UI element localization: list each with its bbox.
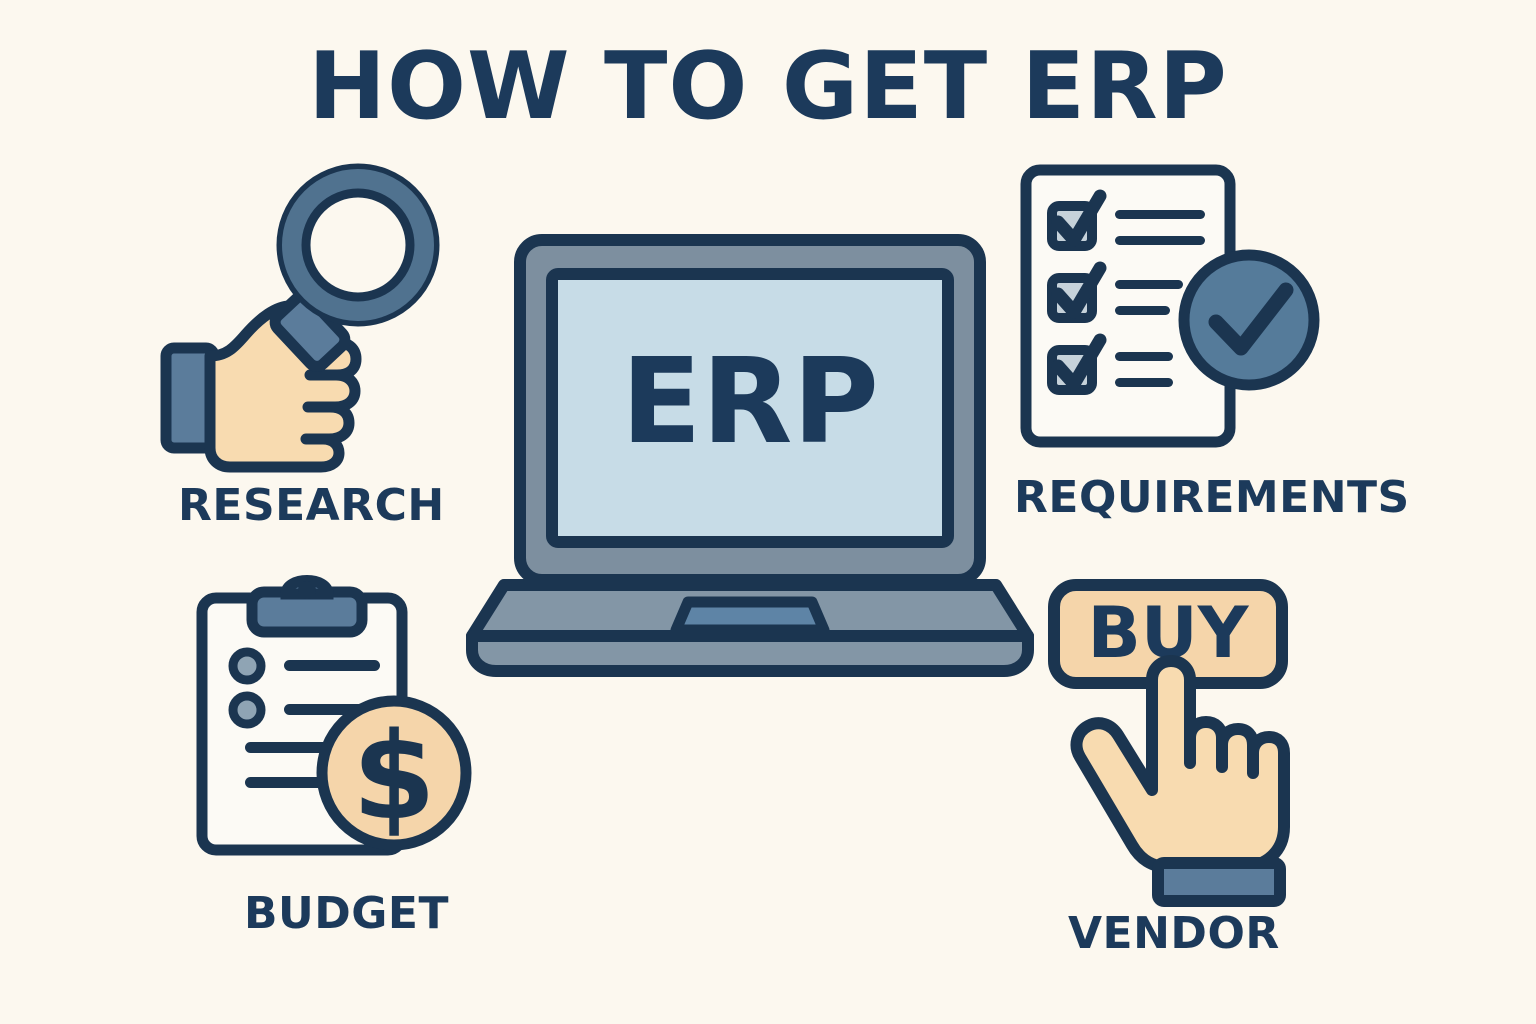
- check-badge: [1184, 255, 1314, 385]
- hand-pressing-buy-button-icon: BUY: [1040, 575, 1320, 905]
- magnifying-glass-in-hand-icon: [160, 160, 480, 480]
- infographic-canvas: HOW TO GET ERP RESEARCH ERP: [0, 0, 1536, 1024]
- laptop-icon: ERP: [480, 230, 1040, 680]
- step-label-requirements: REQUIREMENTS: [1014, 472, 1410, 523]
- bullet-2: [233, 696, 261, 724]
- page-title: HOW TO GET ERP: [0, 38, 1536, 136]
- clipboard-with-dollar-coin-icon: $: [190, 570, 510, 870]
- sleeve-cuff: [1158, 863, 1280, 901]
- laptop-screen-text: ERP: [621, 332, 879, 470]
- bullet-1: [233, 652, 261, 680]
- currency-symbol: $: [352, 708, 436, 847]
- step-label-budget: BUDGET: [244, 888, 449, 939]
- checklist-document-with-checkmark-icon: [1000, 160, 1340, 460]
- step-label-vendor: VENDOR: [1068, 908, 1280, 959]
- step-label-research: RESEARCH: [178, 480, 445, 531]
